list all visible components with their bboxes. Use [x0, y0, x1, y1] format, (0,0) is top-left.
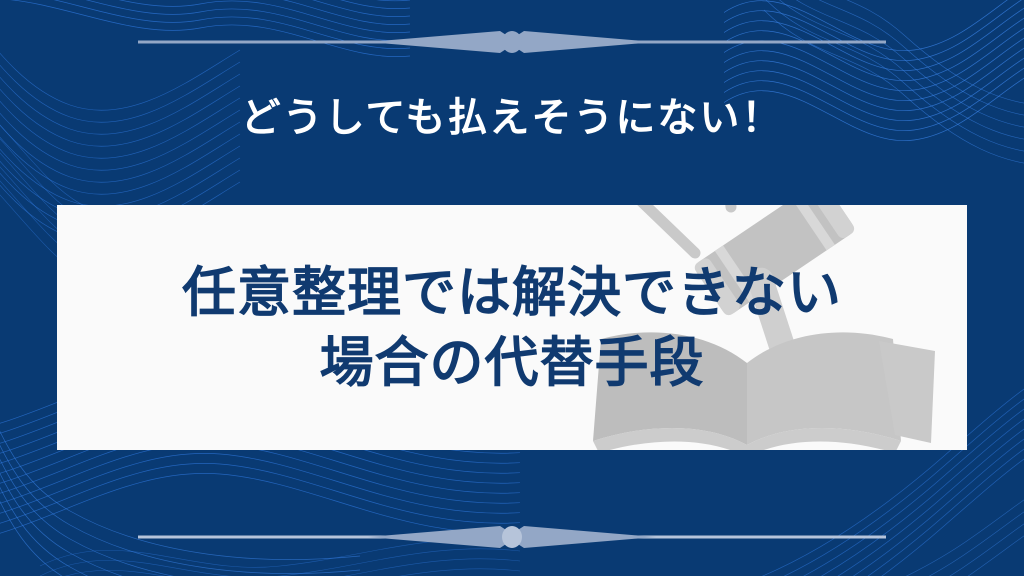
title-line-1: 任意整理では解決できない — [182, 258, 842, 327]
bottom-divider-ornament — [0, 520, 1024, 554]
top-divider-ornament — [0, 25, 1024, 59]
divider-right-wedge — [507, 526, 656, 548]
title-block: 任意整理では解決できない 場合の代替手段 — [57, 205, 967, 450]
title-panel: 任意整理では解決できない 場合の代替手段 — [57, 205, 967, 450]
subtitle-text: どうしても払えそうにない！ — [0, 94, 1024, 142]
divider-left-wedge — [368, 526, 517, 548]
divider-center-circle — [502, 31, 522, 53]
divider-left-wedge — [368, 31, 517, 53]
slide-canvas: どうしても払えそうにない！ — [0, 0, 1024, 576]
title-line-2: 場合の代替手段 — [320, 328, 705, 397]
divider-right-wedge — [507, 31, 656, 53]
divider-center-circle — [502, 526, 522, 548]
